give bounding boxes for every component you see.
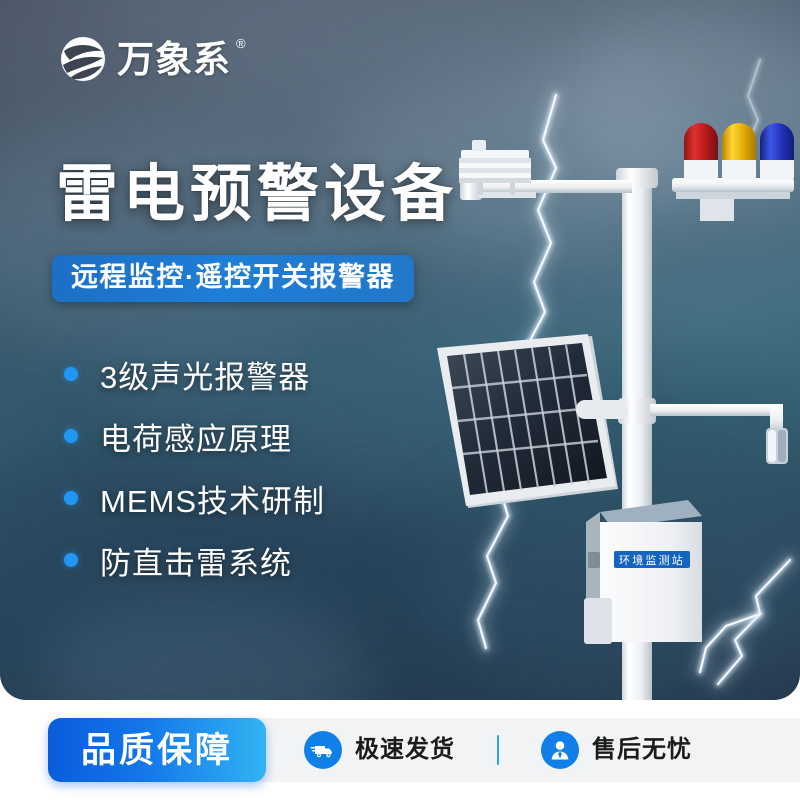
trust-item-fast-shipping: 极速发货	[304, 731, 455, 769]
feature-label: 电荷感应原理	[100, 414, 292, 459]
storm-cloud	[420, 470, 800, 700]
feature-list: 3级声光报警器 电荷感应原理 MEMS技术研制 防直击雷系统	[64, 343, 325, 591]
radiation-shield-sensor	[459, 140, 531, 195]
equipment-label: 环境监测站	[619, 553, 685, 567]
quality-guarantee-badge: 品质保障	[48, 718, 266, 782]
subtitle-badge: 远程监控·遥控开关报警器	[52, 255, 414, 302]
globe-swoosh-logo-icon	[58, 34, 108, 84]
brand-logo: 万象系 ®	[58, 34, 246, 84]
list-item: 电荷感应原理	[64, 405, 325, 467]
storm-cloud	[0, 120, 370, 350]
feature-label: 防直击雷系统	[100, 538, 292, 583]
delivery-truck-icon	[304, 731, 342, 769]
trust-item-label: 极速发货	[355, 738, 455, 762]
control-box: 环境监测站	[584, 500, 702, 644]
lightning-sensor-arm	[650, 404, 788, 464]
product-promo-poster: 环境监测站 万象系 ® 雷电预警设备 远程监控·遥控开关报警器	[0, 0, 800, 800]
list-item: 防直击雷系统	[64, 529, 325, 591]
storm-cloud	[40, 600, 370, 700]
trust-item-after-sales: 售后无忧	[541, 731, 692, 769]
feature-label: MEMS技术研制	[100, 476, 325, 521]
bullet-dot-icon	[64, 553, 78, 567]
brand-name: 万象系	[117, 41, 231, 78]
feature-label: 3级声光报警器	[100, 352, 310, 397]
list-item: MEMS技术研制	[64, 467, 325, 529]
warning-light-cluster	[684, 123, 794, 180]
quality-guarantee-label: 品质保障	[81, 733, 233, 768]
trust-divider	[497, 735, 499, 765]
bullet-dot-icon	[64, 491, 78, 505]
hero-photo-panel: 环境监测站 万象系 ® 雷电预警设备 远程监控·遥控开关报警器	[0, 0, 800, 700]
trust-bar: 品质保障	[0, 700, 800, 800]
storm-cloud	[560, 20, 800, 200]
bullet-dot-icon	[64, 429, 78, 443]
page-title: 雷电预警设备	[56, 162, 458, 227]
bullet-dot-icon	[64, 367, 78, 381]
trust-item-label: 售后无忧	[592, 738, 692, 762]
customer-support-icon	[541, 731, 579, 769]
list-item: 3级声光报警器	[64, 343, 325, 405]
solar-panel	[437, 334, 628, 508]
trademark-mark: ®	[236, 36, 246, 51]
